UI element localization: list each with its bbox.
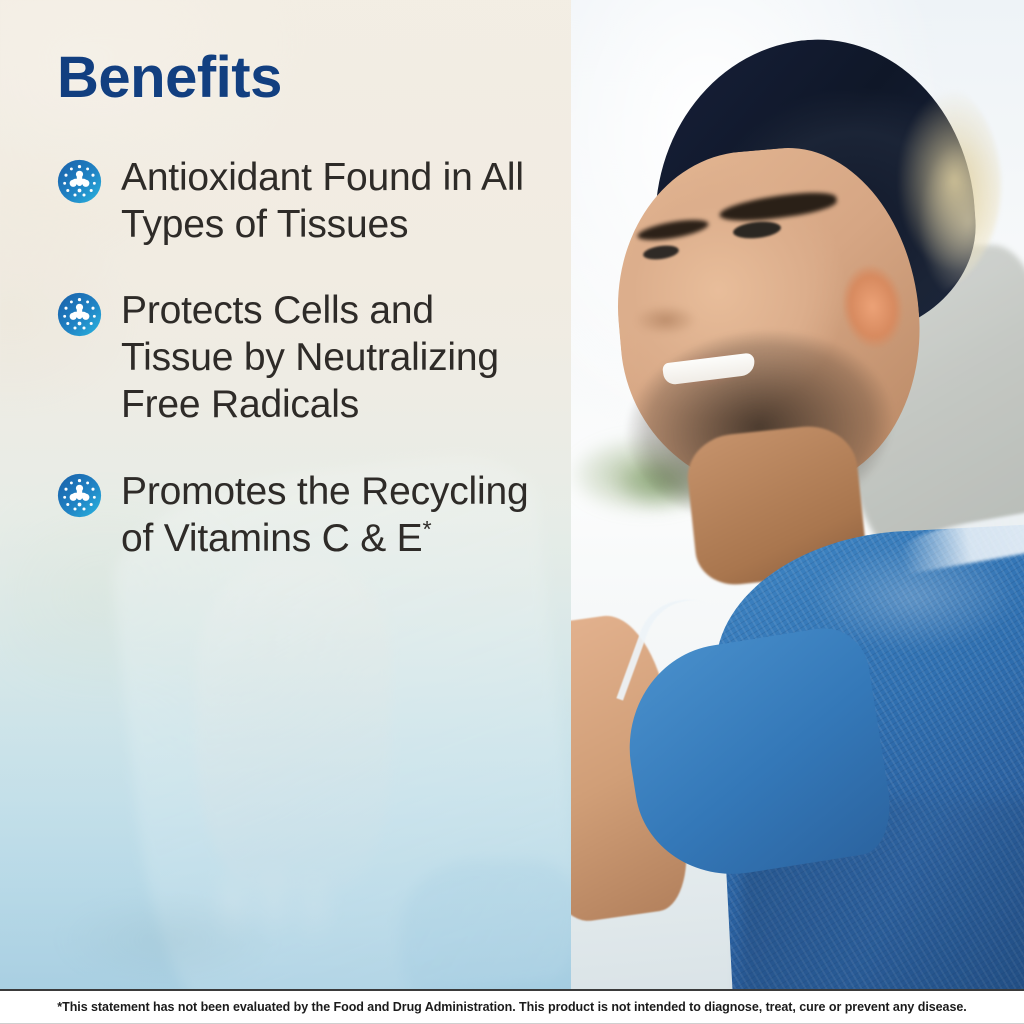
panel-content: Benefits [0,0,571,562]
list-item: Promotes the Recycling of Vitamins C & E… [57,469,547,563]
disclaimer-bar: *This statement has not been evaluated b… [0,989,1024,1024]
hero-photo-panel [571,0,1024,989]
disclaimer-text: *This statement has not been evaluated b… [57,1000,966,1014]
benefit-label: Protects Cells and Tissue by Neutralizin… [121,288,541,428]
footnote-asterisk: * [423,516,432,542]
page-title: Benefits [57,48,547,109]
photo-nose [637,296,709,336]
molecule-cell-icon [57,159,102,204]
photo-hair-rimlight [821,70,1001,300]
list-item: Protects Cells and Tissue by Neutralizin… [57,288,547,428]
molecule-cell-icon [57,292,102,337]
molecule-cell-icon [57,473,102,518]
benefits-list: Antioxidant Found in All Types of Tissue… [57,155,547,563]
benefit-label: Promotes the Recycling of Vitamins C & E… [121,469,541,563]
list-item: Antioxidant Found in All Types of Tissue… [57,155,547,249]
benefits-panel: Benefits [0,0,571,989]
benefit-label: Antioxidant Found in All Types of Tissue… [121,155,541,249]
benefit-label-main: Promotes the Recycling of Vitamins C & E [121,470,528,560]
benefits-poster: Benefits [0,0,1024,1024]
photo-man-smiling [571,0,1024,989]
